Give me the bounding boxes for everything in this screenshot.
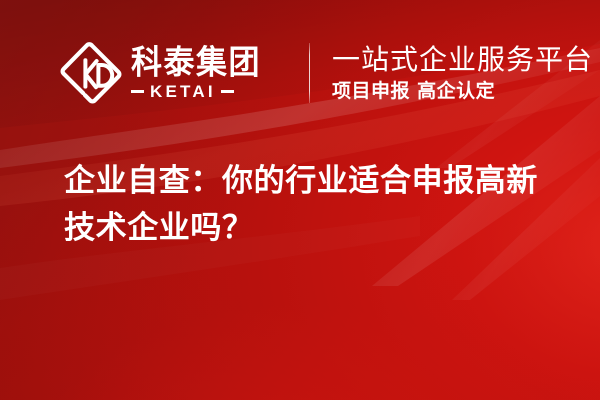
dash-right-icon [221, 90, 234, 93]
tagline-primary: 一站式企业服务平台 [332, 44, 593, 76]
page-title: 企业自查：你的行业适合申报高新 技术企业吗？ [64, 158, 569, 252]
brand-name-cn: 科泰集团 [131, 45, 285, 81]
promo-banner: 科泰集团 KETAI 一站式企业服务平台 项目申报 高企认定 企业自查：你的行业… [0, 0, 600, 400]
page-title-line-1: 企业自查：你的行业适合申报高新 [64, 158, 569, 205]
ketai-diamond-kd-monogram-icon [60, 42, 122, 104]
brand-logo[interactable]: 科泰集团 KETAI [60, 38, 285, 108]
brand-name-en: KETAI [144, 83, 221, 100]
dash-left-icon [131, 90, 144, 93]
vertical-divider-icon [309, 43, 310, 103]
banner-header: 科泰集团 KETAI 一站式企业服务平台 项目申报 高企认定 [60, 36, 593, 110]
tagline-group: 一站式企业服务平台 项目申报 高企认定 [332, 44, 593, 103]
brand-wordmark: 科泰集团 KETAI [131, 46, 285, 100]
brand-name-en-row: KETAI [131, 83, 285, 100]
tagline-secondary: 项目申报 高企认定 [332, 79, 593, 103]
page-title-line-2: 技术企业吗？ [64, 205, 569, 252]
